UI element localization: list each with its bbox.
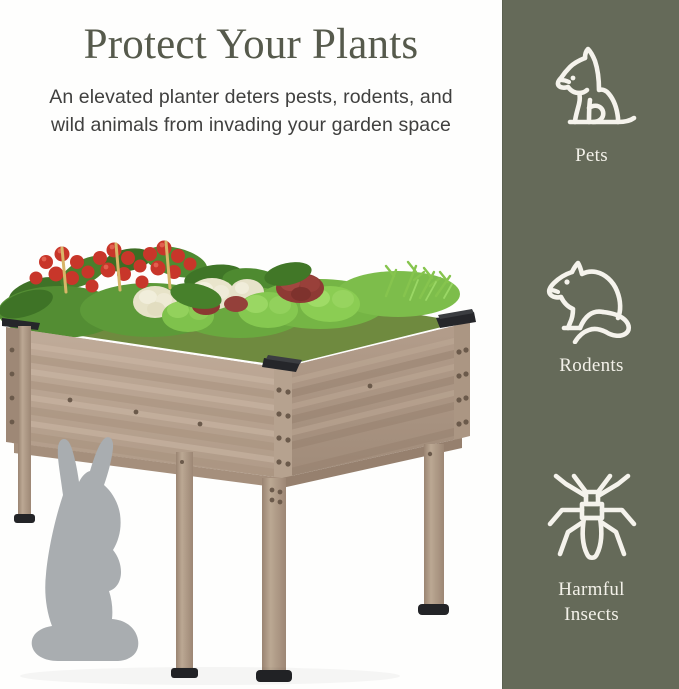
leg-cap-back-left: [14, 514, 35, 523]
page-title: Protect Your Plants: [0, 21, 502, 69]
product-image: [0, 200, 502, 689]
insect-icon: [544, 470, 640, 568]
feature-label-insects-line1: Harmful: [558, 579, 624, 600]
feature-label-rodents: Rodents: [503, 353, 679, 378]
rabbit-silhouette: [32, 437, 139, 661]
feature-panel: Pets Rodents: [502, 0, 679, 689]
ground-shadow: [20, 667, 400, 685]
leg-front-center: [262, 478, 286, 674]
leg-right: [424, 444, 444, 608]
corner-post-left: [6, 327, 20, 444]
feature-label-insects: Harmful Insects: [503, 577, 679, 627]
dog-icon: [544, 42, 640, 134]
feature-label-insects-line2: Insects: [564, 604, 619, 625]
page-subtitle: An elevated planter deters pests, rodent…: [46, 84, 456, 139]
feature-item-rodents: Rodents: [503, 258, 679, 378]
leg-mid: [176, 452, 193, 672]
content-pane: Protect Your Plants An elevated planter …: [0, 0, 502, 689]
feature-item-insects: Harmful Insects: [503, 470, 679, 627]
infographic-page: Protect Your Plants An elevated planter …: [0, 0, 679, 689]
rodent-icon: [542, 258, 642, 344]
feature-label-pets: Pets: [503, 143, 679, 168]
feature-item-pets: Pets: [503, 42, 679, 168]
leg-back-left: [18, 326, 31, 518]
leg-cap-right: [418, 604, 449, 615]
